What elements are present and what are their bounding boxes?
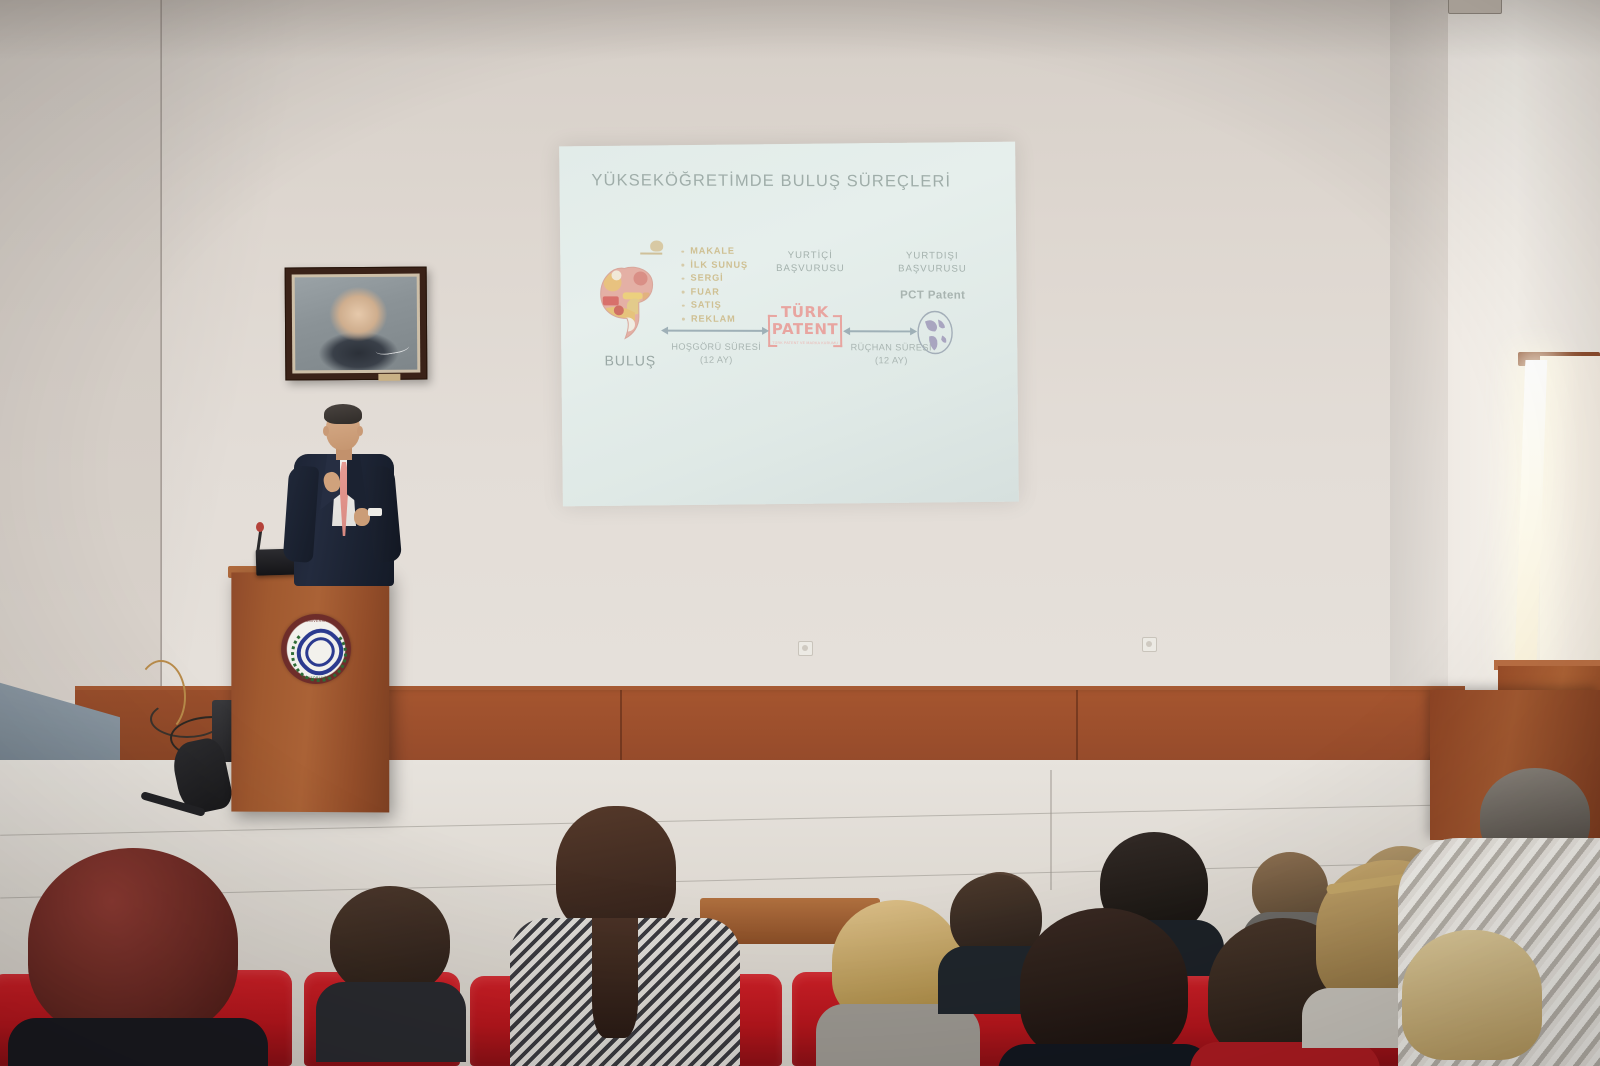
left-wall-panel bbox=[0, 0, 162, 700]
list-item: REKLAM bbox=[691, 313, 749, 327]
ceiling-shadow bbox=[0, 0, 1600, 60]
period-ruchan: RÜÇHAN SÜRESİ (12 AY) bbox=[843, 341, 939, 367]
knot-icon bbox=[288, 620, 352, 684]
ponytail bbox=[592, 918, 638, 1038]
column-label-yurtdisi: YURTDIŞI BAŞVURUSU bbox=[884, 249, 980, 275]
ataturk-portrait-frame bbox=[285, 267, 428, 381]
bulus-label: BULUŞ bbox=[591, 352, 669, 368]
list-item: İLK SUNUŞ bbox=[690, 258, 748, 272]
speaker-presenter bbox=[288, 404, 398, 584]
window-frame bbox=[1540, 356, 1600, 666]
wall-seam bbox=[160, 0, 162, 700]
list-item: MAKALE bbox=[690, 245, 748, 259]
right-wall-corner bbox=[1390, 0, 1450, 700]
logo-tagline: TÜRK PATENT VE MARKA KURUMU bbox=[769, 341, 841, 345]
ceiling-vent-icon bbox=[1448, 0, 1502, 14]
arrow-ruchan bbox=[849, 330, 911, 332]
conference-hall-scene: YÜKSEKÖĞRETİMDE BULUŞ SÜREÇLERİ bbox=[0, 0, 1600, 1066]
projection-screen: YÜKSEKÖĞRETİMDE BULUŞ SÜREÇLERİ bbox=[559, 142, 1019, 507]
wall-socket-left bbox=[798, 641, 813, 656]
speaker-cuff bbox=[368, 508, 382, 516]
floor-tile-line-3 bbox=[1050, 770, 1052, 890]
list-item: SERGİ bbox=[690, 272, 748, 286]
list-item: FUAR bbox=[691, 285, 749, 299]
lightbulb-icon bbox=[650, 241, 663, 252]
logo-line-2: PATENT bbox=[769, 320, 841, 338]
seal-top-text: T.C. ÜNİVERSİTESİ bbox=[281, 619, 351, 623]
list-item: SATIŞ bbox=[691, 299, 749, 313]
invention-process-diagram: BULUŞ MAKALE İLK SUNUŞ SERGİ FUAR SATIŞ … bbox=[566, 244, 1012, 426]
wall-socket-right bbox=[1142, 637, 1157, 652]
portrait-mat bbox=[292, 274, 421, 374]
seal-bottom-text: REKTÖRLÜĞÜ bbox=[281, 676, 351, 680]
slide-title: YÜKSEKÖĞRETİMDE BULUŞ SÜREÇLERİ bbox=[591, 171, 951, 191]
arrow-hosgoru bbox=[667, 330, 763, 332]
signature-icon bbox=[374, 338, 410, 356]
logo-line-1: TÜRK bbox=[769, 303, 841, 321]
portrait-plaque bbox=[378, 374, 400, 381]
period-hosgoru: HOŞGÖRÜ SÜRESİ (12 AY) bbox=[667, 341, 765, 367]
idea-connector-line bbox=[640, 252, 662, 254]
slide-content: YÜKSEKÖĞRETİMDE BULUŞ SÜREÇLERİ bbox=[565, 149, 1013, 499]
microphone-icon bbox=[256, 522, 264, 532]
disclosure-list: MAKALE İLK SUNUŞ SERGİ FUAR SATIŞ REKLAM bbox=[678, 245, 748, 327]
pct-patent-label: PCT Patent bbox=[885, 289, 981, 301]
turk-patent-logo: TÜRK PATENT TÜRK PATENT VE MARKA KURUMU bbox=[769, 303, 842, 355]
column-label-yurtici: YURTİÇİ BAŞVURUSU bbox=[762, 249, 858, 275]
portrait-image bbox=[295, 277, 418, 371]
university-seal: T.C. ÜNİVERSİTESİ REKTÖRLÜĞÜ bbox=[281, 614, 351, 684]
cable-orange bbox=[136, 660, 186, 734]
idea-thought-icon bbox=[594, 262, 663, 344]
podium: T.C. ÜNİVERSİTESİ REKTÖRLÜĞÜ bbox=[231, 572, 389, 813]
speaker-ear-right bbox=[357, 426, 363, 436]
speaker-hair bbox=[324, 404, 362, 424]
speaker-ear-left bbox=[323, 426, 329, 436]
